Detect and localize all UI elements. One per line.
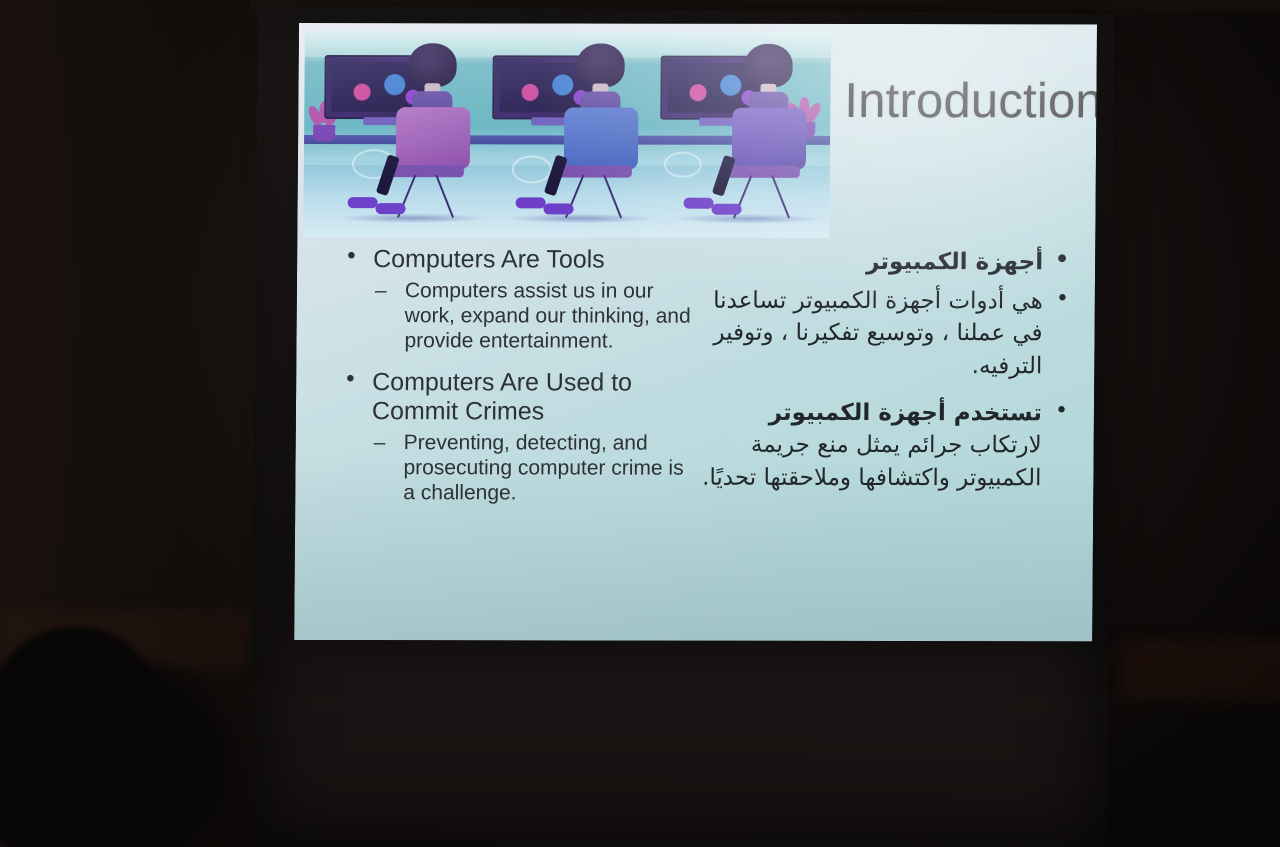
foreground-person-silhouette [0,557,260,847]
english-bullet-column: Computers Are Tools Computers assist us … [337,245,695,520]
bullet-sub: Computers assist us in our work, expand … [338,278,695,354]
people-at-computers-illustration [303,31,831,238]
arabic-bullet-body: هي أدوات أجهزة الكمبيوتر تساعدنا في عملن… [700,284,1079,383]
bullet-sub: Preventing, detecting, and prosecuting c… [337,430,694,506]
arabic-bullet-rest: لارتكاب جرائم يمثل منع جريمة الكمبيوتر و… [702,432,1042,491]
silhouette-head [0,627,170,847]
projected-slide: Introduction Computers Are Tools Compute… [294,23,1097,641]
arabic-bullet-heading: أجهزة الكمبيوتر [701,246,1079,279]
arabic-bullet-body: تستخدم أجهزة الكمبيوتر لارتكاب جرائم يمث… [699,396,1078,495]
page-title: Introduction [844,76,1094,128]
arabic-bullet-bold-lead: تستخدم أجهزة الكمبيوتر [769,399,1042,425]
room-environment: Introduction Computers Are Tools Compute… [0,0,1280,847]
bullet-heading: Computers Are Used to Commit Crimes [338,368,694,427]
illustration-workstation [487,33,668,223]
bullet-heading: Computers Are Tools [339,245,695,275]
illustration-workstation [319,33,500,223]
slide-surface: Introduction Computers Are Tools Compute… [294,23,1097,641]
wall-band-right [1120,640,1280,700]
arabic-bullet-column: أجهزة الكمبيوتر هي أدوات أجهزة الكمبيوتر… [699,246,1079,501]
illustration-workstation [655,34,831,224]
